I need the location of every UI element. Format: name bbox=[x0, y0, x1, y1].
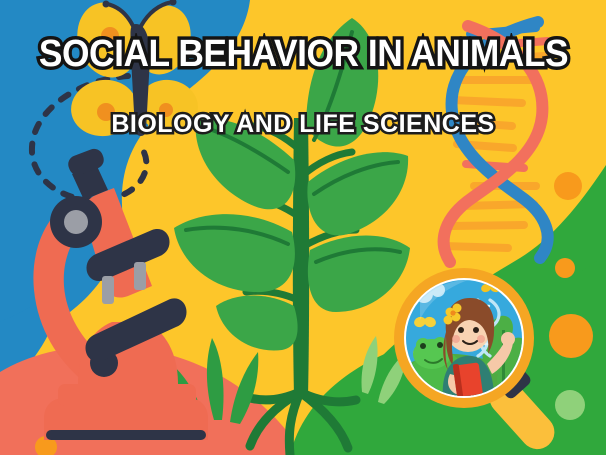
girl-eye-left bbox=[458, 327, 464, 333]
magnifier bbox=[0, 0, 606, 455]
girl-cheek-left bbox=[452, 335, 460, 343]
girl-book bbox=[453, 362, 484, 399]
frog-pupil-left bbox=[420, 343, 426, 349]
girl-cheek-right bbox=[477, 335, 485, 343]
frog-pupil-right bbox=[437, 342, 443, 348]
girl-eye-right bbox=[473, 327, 479, 333]
girl-hand bbox=[501, 332, 515, 346]
poster-canvas: SOCIAL BEHAVIOR IN ANIMALS BIOLOGY AND L… bbox=[0, 0, 606, 455]
